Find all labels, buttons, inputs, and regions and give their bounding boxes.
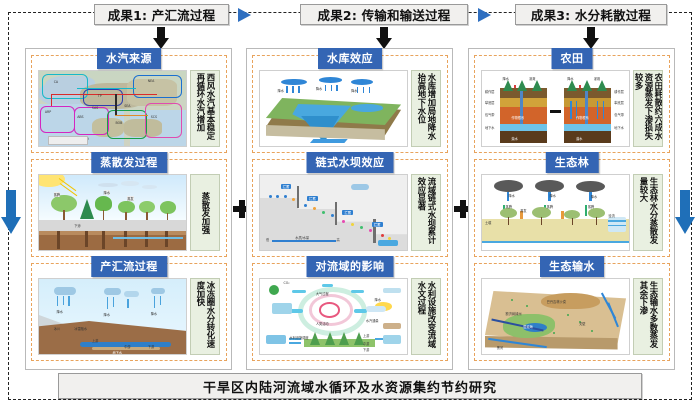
header-stage-2[interactable]: 成果2: 传输和输送过程 — [300, 4, 468, 25]
panel-side-text: 西风水汽基本稳定再循环水汽增加 — [190, 70, 220, 147]
blue-down-arrow-icon-left — [1, 190, 21, 234]
panel-side-text: 冰冻圈水分转化速度加快 — [190, 278, 220, 355]
panel-farmland[interactable]: 农田 — [474, 55, 670, 153]
panel-title: 对流域的影响 — [307, 256, 394, 277]
ecological-water-delivery-block: 巴丹吉林沙漠 居延海 额济纳绿洲 戈壁 黑河 — [481, 278, 630, 355]
column-transport-conveyance: 水库效应 — [246, 48, 453, 370]
panel-title: 水库效应 — [318, 48, 382, 69]
panel-basin-impact[interactable]: 对流域的影响 — [252, 263, 448, 361]
down-arrow-icon-1 — [153, 27, 169, 49]
farmland-soil-columns: 耕作层 犁底层 包气带 地下水 耕作层 犁底层 包气带 地下水 降水 灌溉 降水… — [481, 70, 630, 147]
ecological-forest-scene: 降水 降水 降水 蒸腾 蒸腾 蒸腾 蒸发 径流 土壤 — [481, 174, 630, 251]
panel-title: 水汽来源 — [97, 48, 161, 69]
evapotranspiration-scene: 蒸腾 降水 蒸发 下渗 — [38, 174, 187, 251]
blue-down-arrow-icon-right — [675, 190, 695, 234]
panel-runoff-confluence[interactable]: 产汇流过程 — [31, 263, 227, 361]
moisture-source-map: CA NEA TP SAS SEA ARP ABS BOB SCS NIO — [38, 70, 187, 147]
header-stage-1[interactable]: 成果1: 产汇流过程 — [94, 4, 229, 25]
panel-cascade-dam-effect[interactable]: 链式水坝效应 拦蓄 拦蓄 拦蓄 拦蓄 — [252, 159, 448, 257]
panel-title: 链式水坝效应 — [307, 152, 394, 173]
panel-title: 产汇流过程 — [91, 256, 167, 277]
panel-side-text: 生态输水多数蒸发其余下渗 — [633, 278, 663, 355]
panel-side-text: 农田耗散约六成水资源蒸发下渗损失较多 — [633, 70, 663, 147]
panel-title: 生态输水 — [540, 256, 604, 277]
panel-ecological-forest[interactable]: 生态林 — [474, 159, 670, 257]
column-water-consumption: 农田 — [468, 48, 675, 370]
down-arrow-icon-2 — [376, 27, 392, 49]
header-row: 成果1: 产汇流过程 成果2: 传输和输送过程 成果3: 水分耗散过程 — [0, 0, 700, 28]
panel-side-text: 水利设施改变流域水文过程 — [411, 278, 441, 355]
cascade-dam-scene: 拦蓄 拦蓄 拦蓄 拦蓄 — [259, 174, 408, 251]
down-arrow-icon-3 — [583, 27, 599, 49]
triangle-right-icon-2 — [478, 8, 491, 22]
panel-evapotranspiration[interactable]: 蒸散发过程 — [31, 159, 227, 257]
panel-moisture-source[interactable]: 水汽来源 — [31, 55, 227, 153]
panel-title: 农田 — [552, 48, 593, 69]
panel-ecological-water-delivery[interactable]: 生态输水 — [474, 263, 670, 361]
header-stage-3[interactable]: 成果3: 水分耗散过程 — [515, 4, 667, 25]
panel-side-text: 水库增加局地降水抬高地下水位 — [411, 70, 441, 147]
panel-title: 蒸散发过程 — [91, 152, 167, 173]
panel-side-text: 蒸散发加强 — [190, 174, 220, 251]
reservoir-effect-block: 降水 降水 降水 地下水 — [259, 70, 408, 147]
triangle-right-icon-1 — [238, 8, 251, 22]
basin-impact-cycle: 大气过程 人类活动 CO₂ 降水 水汽通量 水利设施调度 上游 中游 下游 — [259, 278, 408, 355]
runoff-confluence-scene: 降水 降水 降水 冰川 冰雪融水 上游 中游 下游 地下水 — [38, 278, 187, 355]
panel-reservoir-effect[interactable]: 水库效应 — [252, 55, 448, 153]
figure-root: 成果1: 产汇流过程 成果2: 传输和输送过程 成果3: 水分耗散过程 水汽来源 — [0, 0, 700, 406]
column-runoff-generation: 水汽来源 — [25, 48, 232, 370]
panel-side-text: 流域链式水坝累计效应显著 — [411, 174, 441, 251]
figure-bottom-title: 干旱区内陆河流域水循环及水资源集约节约研究 — [58, 373, 642, 399]
panel-title: 生态林 — [546, 152, 599, 173]
panel-side-text: 生态林水分蒸散发量较大 — [633, 174, 663, 251]
